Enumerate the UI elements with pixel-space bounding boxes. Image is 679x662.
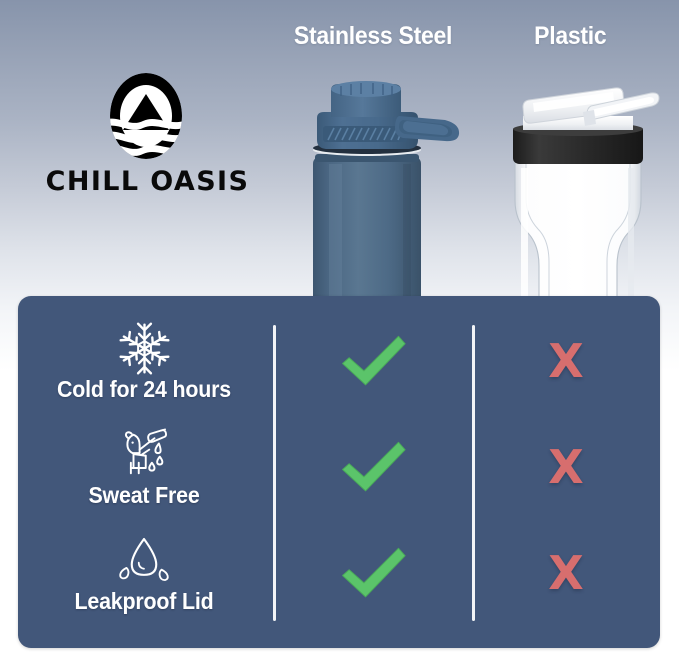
x-icon-plastic-cold: X: [472, 322, 660, 400]
snowflake-icon: [18, 318, 270, 378]
feature-label-sweat: Sweat Free: [27, 482, 261, 509]
brand-logo: CHILL OASIS: [45, 72, 250, 197]
check-icon-steel-leakproof: [273, 534, 472, 612]
feature-sweat: Sweat Free: [18, 424, 270, 524]
water-droplet-icon: [18, 530, 270, 590]
comparison-row-cold: Cold for 24 hours X: [18, 318, 660, 418]
x-icon-plastic-leakproof: X: [472, 534, 660, 612]
column-header-plastic: Plastic: [534, 22, 606, 51]
comparison-rows: Cold for 24 hours X: [18, 296, 660, 648]
brand-name: CHILL OASIS: [45, 166, 250, 197]
comparison-panel: Cold for 24 hours X: [18, 296, 660, 648]
check-icon-steel-cold: [273, 322, 472, 400]
feature-cold: Cold for 24 hours: [18, 318, 270, 418]
x-icon-plastic-sweat: X: [472, 428, 660, 506]
comparison-row-sweat: Sweat Free X: [18, 424, 660, 524]
infographic-canvas: Stainless Steel Plastic: [0, 0, 679, 662]
check-icon-steel-sweat: [273, 428, 472, 506]
feature-leakproof: Leakproof Lid: [18, 530, 270, 630]
column-header-stainless-steel: Stainless Steel: [294, 22, 452, 51]
comparison-row-leakproof: Leakproof Lid X: [18, 530, 660, 630]
mountain-wave-oval-logo-icon: [107, 72, 185, 160]
feature-label-cold: Cold for 24 hours: [27, 376, 261, 403]
clear-plastic-water-bottle-image: [495, 80, 660, 317]
feature-label-leakproof: Leakproof Lid: [27, 588, 261, 615]
stainless-steel-water-bottle-image: [295, 72, 475, 317]
sweating-person-icon: [18, 424, 270, 484]
